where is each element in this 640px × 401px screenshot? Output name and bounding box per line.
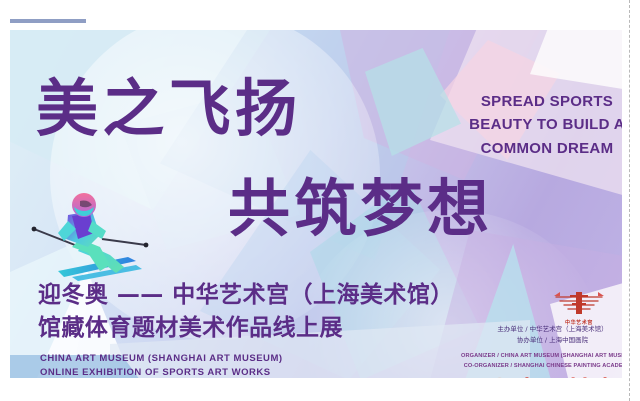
museum-emblem-icon <box>550 288 608 318</box>
exhibition-poster[interactable]: 美之飞扬 共筑梦想 SPREAD SPORTS BEAUTY TO BUILD … <box>10 30 622 378</box>
english-title-line1: SPREAD SPORTS <box>462 90 622 113</box>
credits-cn-line1: 主办单位 / 中华艺术宫（上海美术馆） <box>465 324 622 335</box>
organizer-credits-cn: 主办单位 / 中华艺术宫（上海美术馆） 协办单位 / 上海中国画院 <box>465 324 622 347</box>
poster-title-line2: 共筑梦想 <box>228 178 493 240</box>
right-dashed-border <box>629 0 630 401</box>
english-title-line3: COMMON DREAM <box>462 137 622 160</box>
poster-title-line1: 美之飞扬 <box>36 78 301 140</box>
subtitle-en-line1: CHINA ART MUSEUM (SHANGHAI ART MUSEUM) <box>40 352 283 366</box>
credits-cn-line2: 协办单位 / 上海中国画院 <box>465 335 622 346</box>
subtitle-en-line2: ONLINE EXHIBITION OF SPORTS ART WORKS <box>40 366 283 378</box>
subtitle-cn-line2: 馆藏体育题材美术作品线上展 <box>38 312 454 345</box>
poster-english-title: SPREAD SPORTS BEAUTY TO BUILD A COMMON D… <box>462 90 622 160</box>
china-art-museum-logo: 中华艺术宫 <box>550 288 608 326</box>
subtitle-cn-line1: 迎冬奥 —— 中华艺术宫（上海美术馆） <box>38 279 454 312</box>
site-watermark: 中国甘肃网 www.gscn.com.cn <box>462 368 622 378</box>
poster-subtitle-cn: 迎冬奥 —— 中华艺术宫（上海美术馆） 馆藏体育题材美术作品线上展 <box>38 279 454 346</box>
watermark-brand-text: 中国甘肃网 <box>514 377 622 378</box>
poster-subtitle-en: CHINA ART MUSEUM (SHANGHAI ART MUSEUM) O… <box>40 352 283 378</box>
english-title-line2: BEAUTY TO BUILD A <box>462 113 622 136</box>
page-root: 美之飞扬 共筑梦想 SPREAD SPORTS BEAUTY TO BUILD … <box>0 0 640 401</box>
top-divider-rule <box>10 19 86 23</box>
alpine-skier-illustration <box>24 185 156 285</box>
credits-en-line1: ORGANIZER / CHINA ART MUSEUM (SHANGHAI A… <box>450 352 622 362</box>
watermark-graphic: 中国甘肃网 <box>462 368 622 378</box>
